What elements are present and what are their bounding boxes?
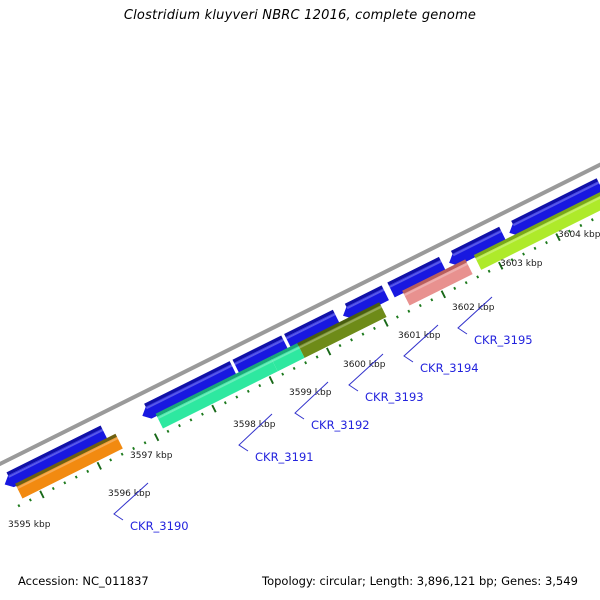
- ruler-tick-minor: [476, 275, 479, 278]
- ruler-tick-minor: [258, 384, 261, 387]
- axis-tick-label: 3598 kbp: [233, 420, 276, 430]
- gene-label-CKR_3193[interactable]: CKR_3193: [365, 390, 424, 404]
- ruler-tick-minor: [190, 418, 193, 421]
- ruler-tick-minor: [17, 504, 20, 507]
- axis-tick-label: 3601 kbp: [398, 331, 441, 341]
- ruler-tick-minor: [167, 430, 170, 433]
- ruler-tick-minor: [109, 458, 112, 461]
- gene-label-CKR_3195[interactable]: CKR_3195: [474, 333, 533, 347]
- ruler-tick-minor: [350, 338, 353, 341]
- ruler-tick-minor: [224, 401, 227, 404]
- ruler-tick-minor: [522, 252, 525, 255]
- ruler-tick-minor: [121, 453, 124, 456]
- gene-feature-CKR_3190-bevel: [15, 434, 117, 487]
- axis-tick-label: 3596 kbp: [108, 489, 151, 499]
- ruler-tick-minor: [132, 447, 135, 450]
- axis-tick-label: 3600 kbp: [343, 360, 386, 370]
- ruler-tick-minor: [373, 327, 376, 330]
- axis-tick-label: 3603 kbp: [500, 259, 543, 269]
- ruler-tick-major: [269, 376, 274, 384]
- accession-text: Accession: NC_011837: [18, 574, 149, 588]
- ruler-tick-major: [154, 433, 159, 441]
- genome-map[interactable]: 3595 kbp3597 kbp3603 kbp3604 kbp3596 kbp…: [0, 0, 600, 600]
- axis-tick-label: 3595 kbp: [8, 520, 51, 530]
- axis-tick-label: 3597 kbp: [130, 451, 173, 461]
- ruler-tick-minor: [235, 395, 238, 398]
- ruler-tick-minor: [591, 218, 594, 221]
- ruler-tick-minor: [293, 367, 296, 370]
- annotation-layer: 3595 kbp3597 kbp3603 kbp3604 kbp3596 kbp…: [8, 230, 600, 533]
- ruler-tick-minor: [419, 304, 422, 307]
- gene-label-CKR_3191[interactable]: CKR_3191: [255, 450, 314, 464]
- ruler-tick-major: [39, 490, 44, 498]
- ruler-tick-minor: [362, 333, 365, 336]
- ruler-tick-minor: [465, 281, 468, 284]
- ruler-tick-minor: [534, 247, 537, 250]
- axis-tick-label: 3604 kbp: [558, 230, 600, 240]
- ruler-tick-minor: [488, 270, 491, 273]
- gene-label-CKR_3194[interactable]: CKR_3194: [420, 361, 479, 375]
- ruler-tick-minor: [75, 476, 78, 479]
- ruler-tick-minor: [407, 310, 410, 313]
- genome-viewer: Clostridium kluyveri NBRC 12016, complet…: [0, 0, 600, 600]
- ruler-tick-minor: [339, 344, 342, 347]
- ruler-tick-minor: [201, 413, 204, 416]
- ruler-tick-minor: [545, 241, 548, 244]
- ruler-tick-major: [326, 347, 331, 355]
- ruler-tick-major: [97, 462, 102, 470]
- ruler-tick-minor: [86, 470, 89, 473]
- ruler-tick-minor: [579, 224, 582, 227]
- gene-label-CKR_3190[interactable]: CKR_3190: [130, 519, 189, 533]
- ruler-tick-major: [211, 405, 216, 413]
- gene-label-CKR_3192[interactable]: CKR_3192: [311, 418, 370, 432]
- ruler-tick-minor: [396, 315, 399, 318]
- genome-backbone-line: [0, 151, 600, 476]
- ruler-tick-minor: [63, 481, 66, 484]
- ruler-tick-minor: [281, 373, 284, 376]
- ruler-tick-minor: [430, 298, 433, 301]
- ruler-tick-major: [441, 290, 446, 298]
- ruler-tick-minor: [144, 441, 147, 444]
- ruler-tick-minor: [52, 487, 55, 490]
- ruler-tick-major: [383, 319, 388, 327]
- ruler-tick-minor: [178, 424, 181, 427]
- ruler-tick-minor: [316, 355, 319, 358]
- ruler-tick-minor: [247, 390, 250, 393]
- axis-tick-label: 3602 kbp: [452, 303, 495, 313]
- genome-stats-text: Topology: circular; Length: 3,896,121 bp…: [262, 574, 578, 588]
- ruler-tick-minor: [29, 498, 32, 501]
- axis-tick-label: 3599 kbp: [289, 388, 332, 398]
- ruler-tick-minor: [453, 287, 456, 290]
- page-title: Clostridium kluyveri NBRC 12016, complet…: [0, 8, 600, 23]
- ruler-tick-minor: [304, 361, 307, 364]
- status-bar: Accession: NC_011837 Topology: circular;…: [0, 566, 600, 600]
